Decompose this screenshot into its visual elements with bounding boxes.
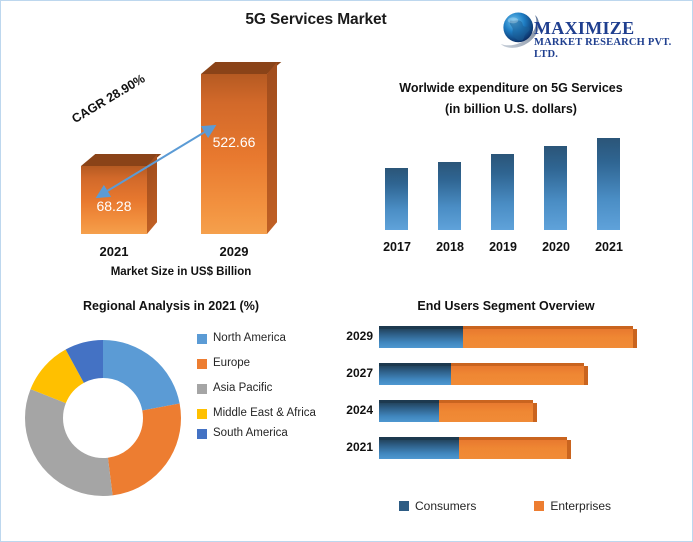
stacked-label-2021: 2021 bbox=[329, 440, 373, 454]
legend-swatch-north-america bbox=[197, 334, 207, 344]
legend-swatch-europe bbox=[197, 359, 207, 369]
expenditure-title-line1: Worlwide expenditure on 5G Services bbox=[361, 81, 661, 95]
segment-top-cap bbox=[459, 437, 567, 440]
stacked-label-2027: 2027 bbox=[329, 366, 373, 380]
legend-swatch-consumers bbox=[399, 501, 409, 511]
segment-right-cap bbox=[567, 440, 571, 459]
stacked-segment-2024-consumers bbox=[379, 403, 439, 422]
segment-top-cap bbox=[379, 363, 451, 366]
column-2021: 68.28 2021 bbox=[81, 166, 147, 234]
legend-label-south-america: South America bbox=[213, 426, 288, 440]
legend-label-enterprises: Enterprises bbox=[550, 499, 611, 513]
stacked-segment-2029-consumers bbox=[379, 329, 463, 348]
donut-chart bbox=[13, 328, 193, 508]
expenditure-column-2021 bbox=[597, 138, 620, 230]
regional-analysis-chart bbox=[13, 328, 193, 508]
end-users-chart: 2029 2027 2024 bbox=[379, 326, 679, 486]
logo-company-name: MAXIMIZE bbox=[534, 20, 689, 37]
segment-top-cap bbox=[463, 326, 633, 329]
column-2021-value: 68.28 bbox=[81, 198, 147, 214]
legend-item-europe: Europe bbox=[197, 356, 317, 370]
expenditure-label-2020: 2020 bbox=[533, 240, 579, 254]
segment-top-cap bbox=[379, 326, 463, 329]
segment-right-cap bbox=[533, 403, 537, 422]
regional-analysis-title: Regional Analysis in 2021 (%) bbox=[41, 299, 301, 313]
column-2029-front-face bbox=[201, 74, 267, 234]
stacked-row-2021: 2021 bbox=[379, 437, 639, 459]
market-size-axis-label: Market Size in US$ Billion bbox=[61, 266, 301, 278]
stacked-segment-2021-enterprises bbox=[459, 440, 567, 459]
legend-label-middle-east-africa: Middle East & Africa bbox=[213, 406, 316, 420]
stacked-segment-2021-consumers bbox=[379, 440, 459, 459]
legend-swatch-south-america bbox=[197, 429, 207, 439]
stacked-segment-2029-enterprises bbox=[463, 329, 633, 348]
expenditure-label-2017: 2017 bbox=[374, 240, 420, 254]
stacked-row-2027: 2027 bbox=[379, 363, 639, 385]
stacked-row-2024: 2024 bbox=[379, 400, 639, 422]
legend-swatch-enterprises bbox=[534, 501, 544, 511]
segment-top-cap bbox=[379, 400, 439, 403]
expenditure-column-2019 bbox=[491, 154, 514, 230]
column-2021-side-face bbox=[147, 154, 157, 234]
legend-label-north-america: North America bbox=[213, 331, 286, 345]
segment-right-cap bbox=[584, 366, 588, 385]
logo-text: MAXIMIZE MARKET RESEARCH PVT. LTD. bbox=[534, 20, 689, 61]
legend-item-middle-east-africa: Middle East & Africa bbox=[197, 406, 317, 420]
expenditure-column-2017 bbox=[385, 168, 408, 230]
legend-swatch-asia-pacific bbox=[197, 384, 207, 394]
legend-item-consumers: Consumers bbox=[399, 499, 476, 513]
expenditure-title-line2: (in billion U.S. dollars) bbox=[361, 102, 661, 116]
expenditure-label-2021: 2021 bbox=[586, 240, 632, 254]
column-2029: 522.66 2029 bbox=[201, 74, 267, 234]
legend-item-asia-pacific: Asia Pacific bbox=[197, 381, 317, 395]
legend-item-south-america: South America bbox=[197, 426, 317, 440]
stacked-segment-2027-enterprises bbox=[451, 366, 584, 385]
expenditure-chart: 2017 2018 2019 2020 2021 bbox=[371, 136, 671, 256]
legend-label-europe: Europe bbox=[213, 356, 250, 370]
regional-analysis-legend: North America Europe Asia Pacific Middle… bbox=[197, 331, 317, 451]
page-title: 5G Services Market bbox=[181, 11, 451, 29]
legend-label-asia-pacific: Asia Pacific bbox=[213, 381, 272, 395]
legend-swatch-middle-east-africa bbox=[197, 409, 207, 419]
stacked-label-2029: 2029 bbox=[329, 329, 373, 343]
stacked-segment-2027-consumers bbox=[379, 366, 451, 385]
column-2029-side-face bbox=[267, 62, 277, 234]
stacked-label-2024: 2024 bbox=[329, 403, 373, 417]
end-users-title: End Users Segment Overview bbox=[391, 299, 621, 313]
expenditure-column-2020 bbox=[544, 146, 567, 230]
stacked-row-2029: 2029 bbox=[379, 326, 639, 348]
infographic-canvas: 5G Services Market MAXIMIZE bbox=[0, 0, 693, 542]
legend-item-enterprises: Enterprises bbox=[534, 499, 611, 513]
logo-company-tagline: MARKET RESEARCH PVT. LTD. bbox=[534, 37, 689, 61]
column-2029-value: 522.66 bbox=[201, 134, 267, 150]
legend-label-consumers: Consumers bbox=[415, 499, 476, 513]
segment-right-cap bbox=[633, 329, 637, 348]
company-logo: MAXIMIZE MARKET RESEARCH PVT. LTD. bbox=[489, 8, 689, 58]
column-2021-category: 2021 bbox=[69, 244, 159, 259]
column-2029-category: 2029 bbox=[189, 244, 279, 259]
segment-top-cap bbox=[439, 400, 533, 403]
segment-top-cap bbox=[451, 363, 584, 366]
segment-top-cap bbox=[379, 437, 459, 440]
expenditure-column-2018 bbox=[438, 162, 461, 230]
legend-item-north-america: North America bbox=[197, 331, 317, 345]
expenditure-label-2019: 2019 bbox=[480, 240, 526, 254]
expenditure-label-2018: 2018 bbox=[427, 240, 473, 254]
end-users-legend: Consumers Enterprises bbox=[399, 499, 659, 513]
stacked-segment-2024-enterprises bbox=[439, 403, 533, 422]
